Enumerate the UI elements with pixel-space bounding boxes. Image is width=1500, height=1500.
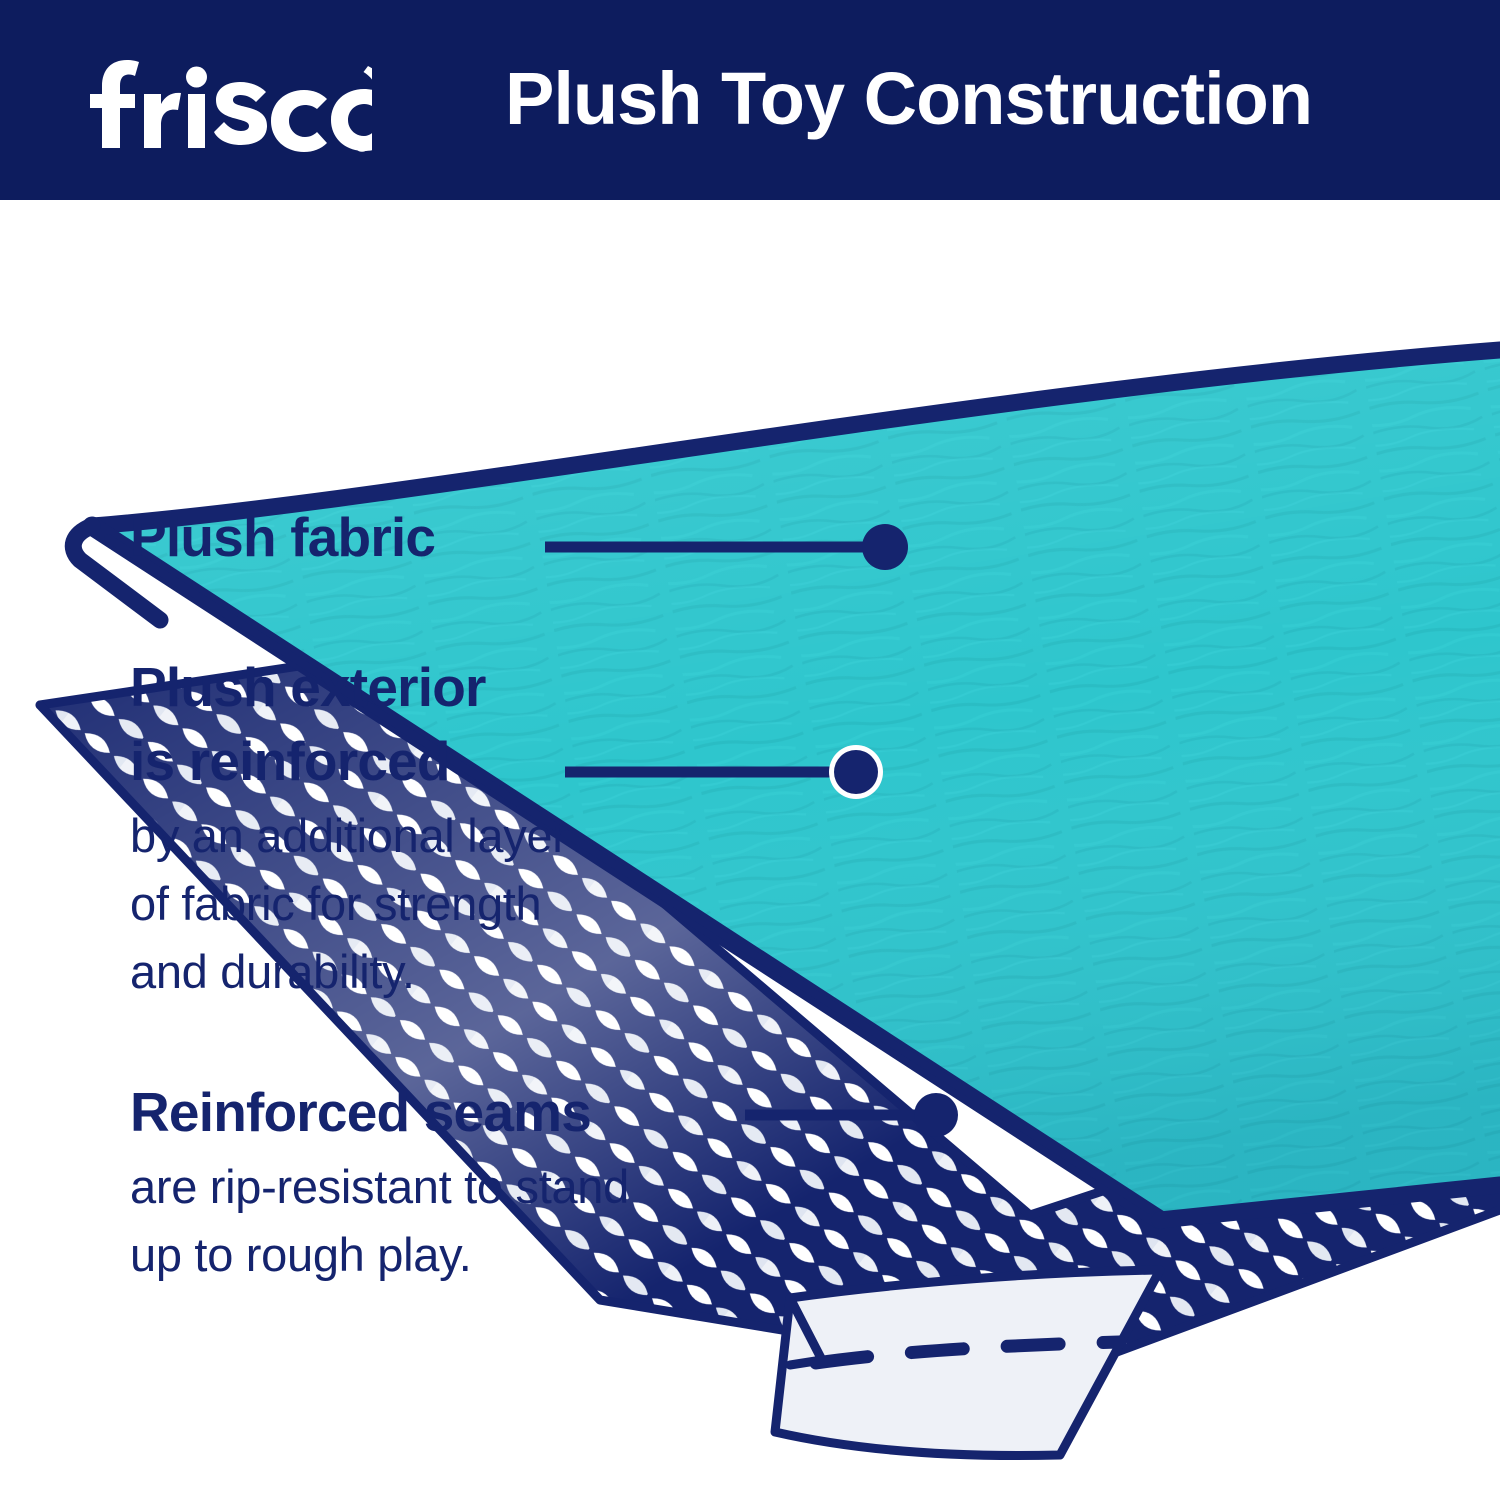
callout-heading: Plush fabric bbox=[130, 500, 435, 574]
callout-body: are rip-resistant to stand up to rough p… bbox=[130, 1153, 629, 1289]
callout-body: by an additional layer of fabric for str… bbox=[130, 802, 568, 1006]
infographic-canvas: R Plush Toy Construction bbox=[0, 0, 1500, 1500]
callout-heading: Reinforced seams bbox=[130, 1075, 629, 1149]
callout-reinforced-seams: Reinforced seams are rip-resistant to st… bbox=[130, 1075, 629, 1289]
callout-heading: Plush exterior is reinforced bbox=[130, 650, 568, 798]
registered-mark: R bbox=[359, 139, 365, 149]
page-title: Plush Toy Construction bbox=[505, 44, 1312, 154]
seam-flap bbox=[775, 1270, 1160, 1456]
header-bar: R Plush Toy Construction bbox=[0, 0, 1500, 200]
callout-plush-fabric: Plush fabric bbox=[130, 500, 435, 574]
callout-plush-exterior: Plush exterior is reinforced by an addit… bbox=[130, 650, 568, 1006]
frisco-logo: R bbox=[72, 48, 372, 152]
